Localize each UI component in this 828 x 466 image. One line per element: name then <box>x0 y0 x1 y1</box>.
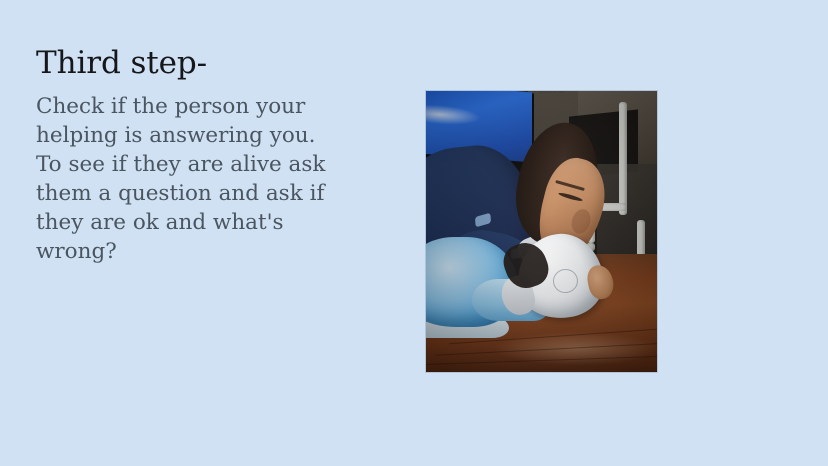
slide-body-text: Check if the person your helping is answ… <box>36 92 336 266</box>
tv-screen-glow <box>426 103 481 128</box>
slide-text-block: Third step- Check if the person your hel… <box>36 44 376 266</box>
page-title: Third step- <box>36 44 376 82</box>
tv-label-home: Home <box>528 91 566 93</box>
slide-photo: Home DVD <box>426 91 657 372</box>
pipe-vertical-1 <box>619 102 627 214</box>
photo-illustration: Home DVD <box>426 91 657 372</box>
presentation-slide: Third step- Check if the person your hel… <box>0 0 828 466</box>
